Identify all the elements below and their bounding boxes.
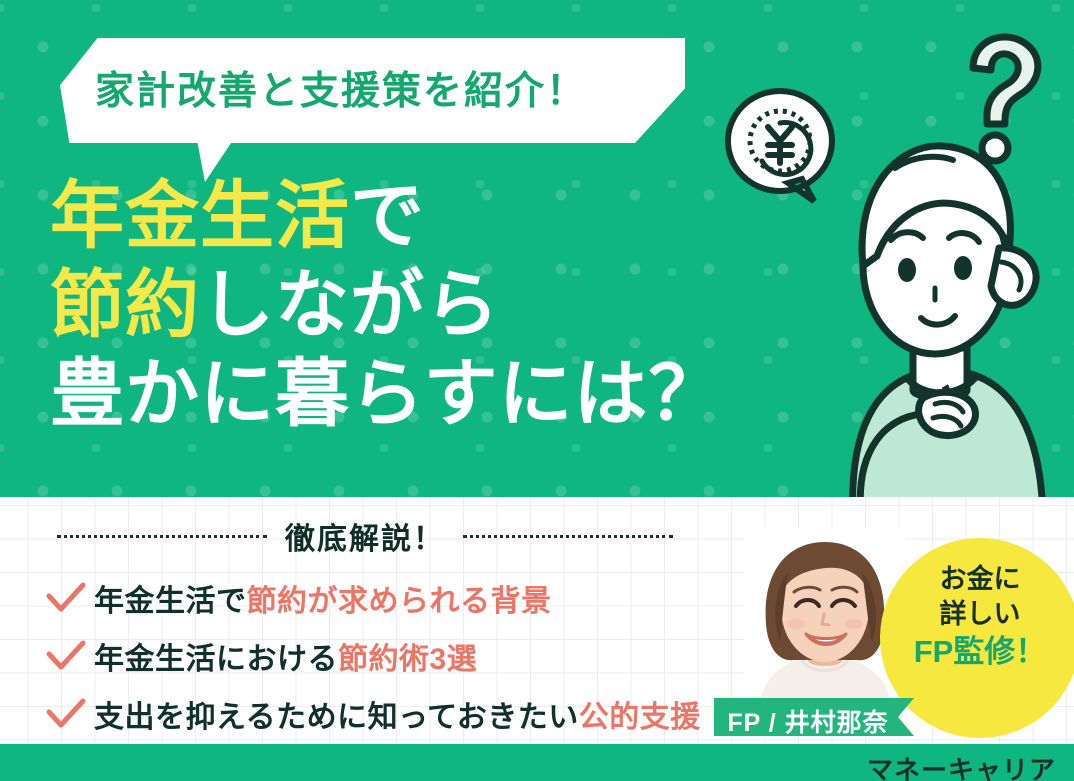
brand-logo: マネーキャリア bbox=[867, 750, 1056, 781]
fp-badge-text: お金に 詳しい FP監修！ bbox=[880, 562, 1074, 672]
section-title: 徹底解説！ bbox=[285, 514, 445, 558]
fp-badge-line-2: 詳しい bbox=[880, 597, 1074, 632]
thumbnail-canvas: 家計改善と支援策を紹介！ 年金生活で 節約しながら 豊かに暮らすには？ bbox=[0, 0, 1074, 781]
list-item: 支出を抑えるために知っておきたい公的支援 bbox=[38, 688, 738, 740]
headline-line-2-plain: しながら bbox=[200, 263, 500, 346]
list-item-text: 年金生活における節約術3選 bbox=[94, 634, 477, 678]
fp-name-text: FP / 井村那奈 bbox=[714, 703, 902, 739]
headline-line-3-plain: 豊かに暮らすには？ bbox=[50, 352, 724, 435]
list-item-plain: 支出を抑えるために知っておきたい bbox=[94, 701, 579, 734]
speech-banner-text: 家計改善と支援策を紹介！ bbox=[95, 60, 655, 116]
check-icon bbox=[38, 582, 94, 614]
list-item-emphasis: 節約が求められる背景 bbox=[247, 585, 552, 618]
list-item-emphasis: 公的支援 bbox=[579, 701, 701, 734]
dotted-line-left bbox=[57, 535, 267, 538]
section-heading: 徹底解説！ bbox=[0, 514, 730, 558]
headline-line-1-highlight: 年金生活 bbox=[50, 174, 350, 257]
check-icon bbox=[38, 698, 94, 730]
fp-badge-line-3: FP監修！ bbox=[880, 632, 1074, 672]
list-item-text: 支出を抑えるために知っておきたい公的支援 bbox=[94, 692, 701, 736]
list-item-text: 年金生活で節約が求められる背景 bbox=[94, 576, 552, 620]
list-item-plain: 年金生活における bbox=[94, 643, 338, 676]
list-item-plain: 年金生活で bbox=[94, 585, 247, 618]
check-icon bbox=[38, 640, 94, 672]
list-item: 年金生活で節約が求められる背景 bbox=[38, 572, 738, 624]
checklist: 年金生活で節約が求められる背景 年金生活における節約術3選 支出を抑えるために知… bbox=[38, 572, 738, 746]
headline-line-1-plain: で bbox=[350, 174, 425, 257]
list-item: 年金生活における節約術3選 bbox=[38, 630, 738, 682]
headline-line-2-highlight: 節約 bbox=[50, 263, 200, 346]
list-item-emphasis: 節約術3選 bbox=[338, 643, 477, 676]
fp-badge-line-1: お金に bbox=[880, 562, 1074, 597]
hero-illustration bbox=[700, 28, 1074, 498]
dotted-line-right bbox=[463, 535, 673, 538]
thinking-woman-illustration bbox=[795, 98, 1074, 518]
